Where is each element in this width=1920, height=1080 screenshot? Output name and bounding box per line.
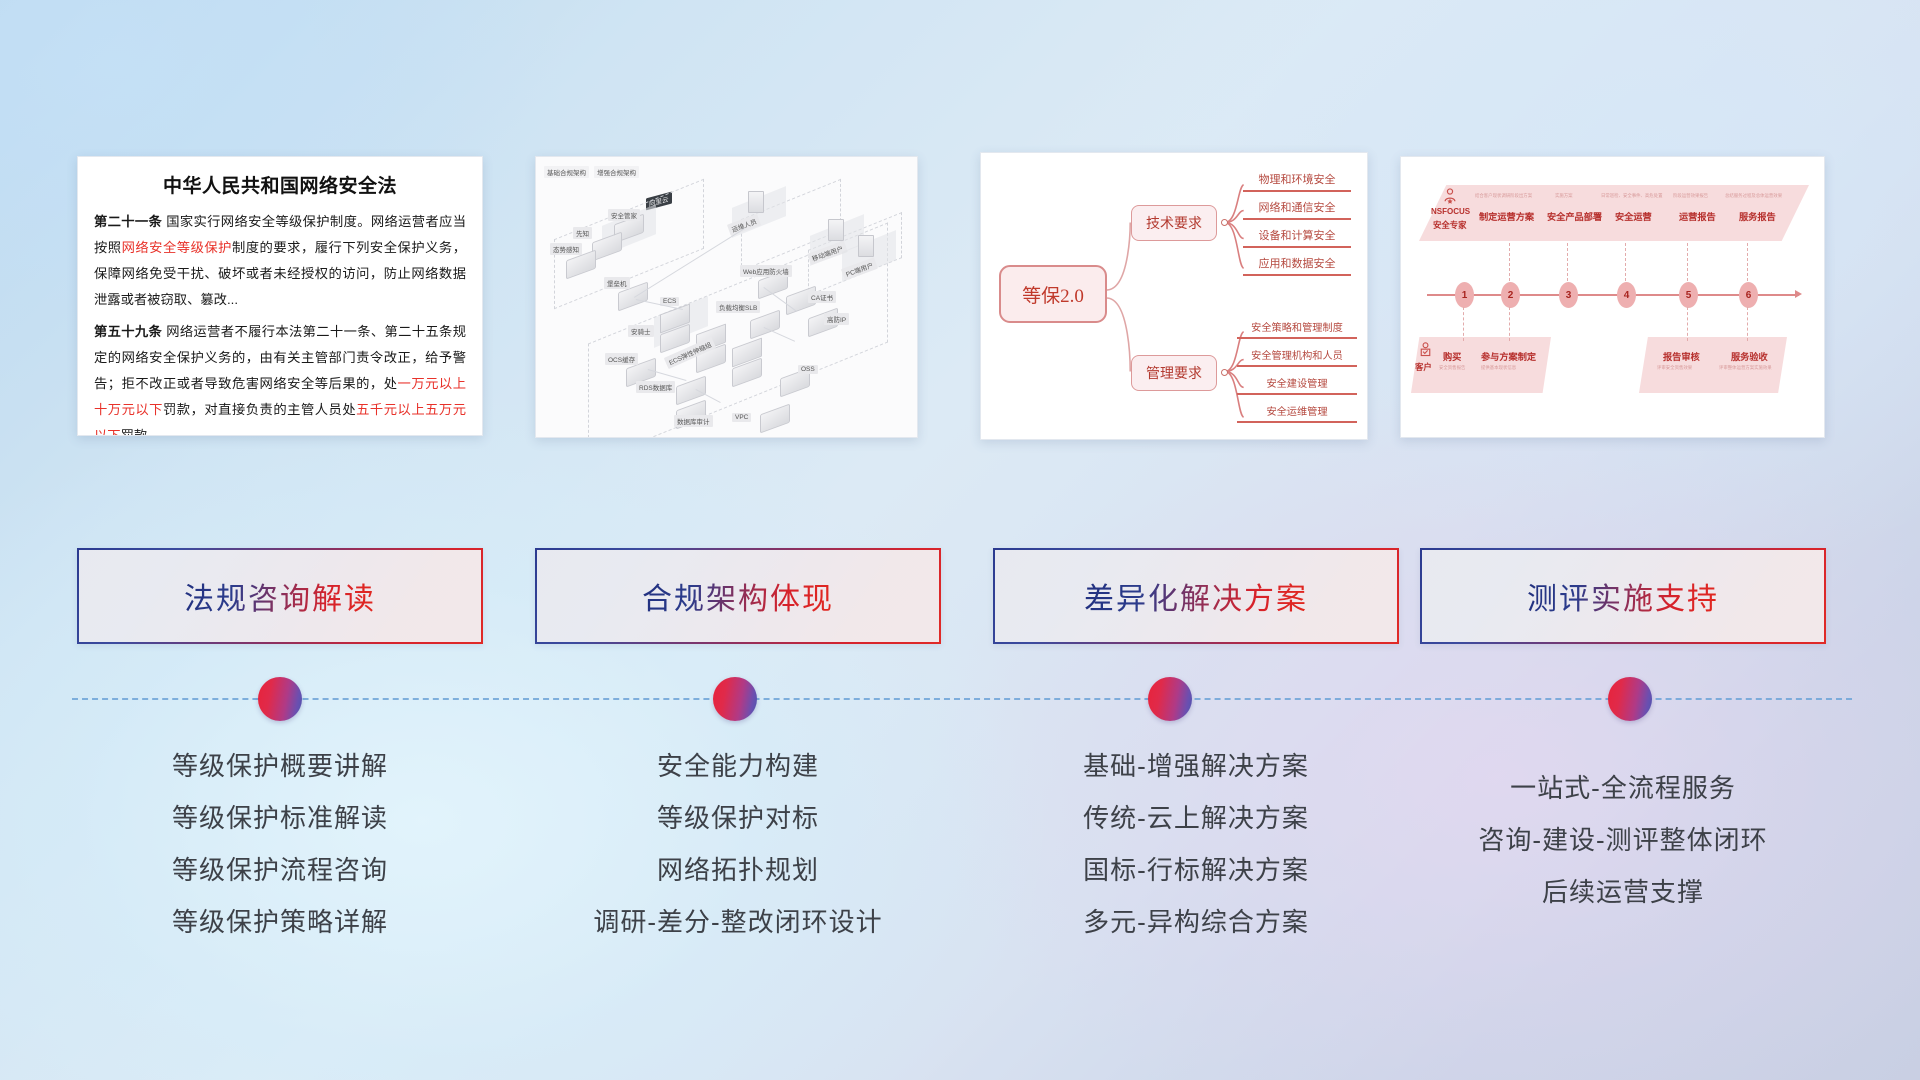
list-item: 一站式-全流程服务 <box>1420 762 1826 814</box>
arch-node-label: CA证书 <box>808 291 836 303</box>
pillar-header-differentiated-solution[interactable]: 差异化解决方案 <box>993 548 1399 644</box>
arch-node-pc-user <box>858 235 874 257</box>
timeline-tick <box>1567 243 1568 281</box>
card-service-timeline[interactable]: NSFOCUS 安全专家 结合客户现状调研阶段出方案 制定运营方案 实施方案 安… <box>1400 156 1825 438</box>
timeline-tick <box>1625 243 1626 281</box>
customer-icon <box>1417 341 1434 358</box>
mindmap-leaf: 安全运维管理 <box>1237 403 1357 423</box>
arch-node-label: RDS数据库 <box>636 381 675 393</box>
timeline-arrow-icon <box>1795 290 1802 298</box>
mindmap-leaf: 安全策略和管理制度 <box>1237 319 1357 339</box>
timeline-tick <box>1687 243 1688 281</box>
timeline-tick <box>1509 307 1510 341</box>
pillar-title: 合规架构体现 <box>642 574 834 618</box>
arch-node-label: 先知 <box>573 227 592 239</box>
mindmap-leaf: 物理和环境安全 <box>1243 171 1351 192</box>
arch-tab-enhanced: 增强合规架构 <box>594 166 639 178</box>
arch-node-mobile-user <box>828 219 844 241</box>
mindmap-leaf: 网络和通信安全 <box>1243 199 1351 220</box>
timeline-step-dot[interactable]: 5 <box>1679 282 1698 308</box>
step-label: 服务报告 <box>1739 209 1776 223</box>
timeline-step-dot[interactable]: 6 <box>1739 282 1758 308</box>
step-label: 安全运营 <box>1615 209 1652 223</box>
mindmap-leaf: 设备和计算安全 <box>1243 227 1351 248</box>
arch-node-label: 安全管家 <box>608 209 640 221</box>
law-article-label: 第五十九条 <box>94 324 162 339</box>
customer-action-label: 服务验收 <box>1731 349 1768 363</box>
law-run: 罚款，对直接负责的主管人员处 <box>163 402 356 417</box>
law-article-label: 第二十一条 <box>94 214 162 229</box>
timeline-step-dot[interactable]: 4 <box>1617 282 1636 308</box>
list-item: 基础-增强解决方案 <box>993 740 1399 792</box>
customer-action-caption: 评审整体运营方案实施效果 <box>1719 365 1772 371</box>
arch-node-label: 堡垒机 <box>604 277 630 289</box>
law-run: 罚款。 <box>121 428 161 436</box>
pillar-detail-list-4: 一站式-全流程服务 咨询-建设-测评整体闭环 后续运营支撑 <box>1420 762 1826 918</box>
pillar-title: 法规咨询解读 <box>184 574 376 618</box>
card-mindmap[interactable]: 等保2.0 技术要求 物理和环境安全 网络和通信安全 设备和计算安全 应用和数据… <box>980 152 1368 440</box>
customer-action-label: 购买 <box>1443 349 1461 363</box>
list-item: 国标-行标解决方案 <box>993 844 1399 896</box>
arch-node-label: 负载均衡SLB <box>716 301 760 313</box>
mindmap-branch-technical[interactable]: 技术要求 <box>1131 205 1217 241</box>
arch-node-label: 态势感知 <box>550 243 582 255</box>
card-cloud-architecture[interactable]: 基础合规架构 增强合规架构 阿里云 安全管家 先知 态势感知 堡垒机 <box>535 156 918 438</box>
arch-tab-basic: 基础合规架构 <box>544 166 589 178</box>
timeline-tick <box>1747 243 1748 281</box>
provider-role: 安全专家 <box>1433 219 1467 231</box>
step-label: 安全产品部署 <box>1547 209 1602 223</box>
pillar-title: 测评实施支持 <box>1527 574 1719 618</box>
step-label: 运营报告 <box>1679 209 1716 223</box>
arch-node-operator <box>748 191 764 213</box>
arch-node-label: VPC <box>732 413 751 422</box>
list-item: 等级保护策略详解 <box>77 896 483 948</box>
step-caption: 结合客户现状调研阶段出方案 <box>1475 193 1532 199</box>
pillar-detail-list-2: 安全能力构建 等级保护对标 网络拓扑规划 调研-差分-整改闭环设计 <box>535 740 941 948</box>
arch-node-label: 安骑士 <box>628 325 654 337</box>
arch-node-vpc <box>760 404 790 434</box>
expert-icon <box>1441 187 1459 205</box>
provider-brand: NSFOCUS <box>1431 207 1470 216</box>
pillar-marker-4[interactable] <box>1608 677 1652 721</box>
step-label: 制定运营方案 <box>1479 209 1534 223</box>
arch-node-label: OCS缓存 <box>605 353 638 365</box>
law-body: 第二十一条 国家实行网络安全等级保护制度。网络运营者应当按照网络安全等级保护制度… <box>78 209 482 436</box>
pillar-marker-2[interactable] <box>713 677 757 721</box>
mindmap-branch-management[interactable]: 管理要求 <box>1131 355 1217 391</box>
list-item: 后续运营支撑 <box>1420 866 1826 918</box>
mindmap-collapse-icon[interactable] <box>1221 219 1228 226</box>
pillar-detail-list-3: 基础-增强解决方案 传统-云上解决方案 国标-行标解决方案 多元-异构综合方案 <box>993 740 1399 948</box>
step-caption: 实施方案 <box>1555 193 1573 199</box>
arch-node-label: 数据库审计 <box>674 415 713 427</box>
arch-node-label: OSS <box>798 365 818 374</box>
list-item: 等级保护流程咨询 <box>77 844 483 896</box>
list-item: 网络拓扑规划 <box>535 844 941 896</box>
timeline-step-dot[interactable]: 3 <box>1559 282 1578 308</box>
list-item: 等级保护概要讲解 <box>77 740 483 792</box>
timeline-divider <box>72 698 1852 700</box>
list-item: 等级保护对标 <box>535 792 941 844</box>
mindmap: 等保2.0 技术要求 物理和环境安全 网络和通信安全 设备和计算安全 应用和数据… <box>981 153 1367 439</box>
arch-node-label: 高防IP <box>824 313 849 325</box>
service-timeline: NSFOCUS 安全专家 结合客户现状调研阶段出方案 制定运营方案 实施方案 安… <box>1401 157 1824 437</box>
pillar-detail-list-1: 等级保护概要讲解 等级保护标准解读 等级保护流程咨询 等级保护策略详解 <box>77 740 483 948</box>
timeline-step-dot[interactable]: 2 <box>1501 282 1520 308</box>
law-paragraph: 第五十九条 网络运营者不履行本法第二十一条、第二十五条规定的网络安全保护义务的，… <box>94 319 466 436</box>
pillar-title: 差异化解决方案 <box>1084 574 1308 618</box>
step-caption: 总结服务过程及总体运营效果 <box>1725 193 1782 199</box>
law-paragraph: 第二十一条 国家实行网络安全等级保护制度。网络运营者应当按照网络安全等级保护制度… <box>94 209 466 313</box>
customer-action-caption: 安全资售报告 <box>1439 365 1465 371</box>
timeline-tick <box>1687 307 1688 341</box>
list-item: 咨询-建设-测评整体闭环 <box>1420 814 1826 866</box>
pillar-header-row: 法规咨询解读 合规架构体现 差异化解决方案 测评实施支持 <box>0 548 1920 648</box>
customer-action-caption: 提供基本现状信息 <box>1481 365 1516 371</box>
timeline-tick <box>1747 307 1748 341</box>
pillar-marker-1[interactable] <box>258 677 302 721</box>
card-law-document[interactable]: 中华人民共和国网络安全法 第二十一条 国家实行网络安全等级保护制度。网络运营者应… <box>77 156 483 436</box>
mindmap-collapse-icon[interactable] <box>1221 369 1228 376</box>
pillar-header-assessment-support[interactable]: 测评实施支持 <box>1420 548 1826 644</box>
customer-role: 客户 <box>1415 361 1432 373</box>
step-caption: 日常巡检、安全事件、高危处置 <box>1601 193 1662 199</box>
law-run-highlight: 网络安全等级保护 <box>122 240 232 255</box>
pillar-header-regulation-consulting[interactable]: 法规咨询解读 <box>77 548 483 644</box>
timeline-tick <box>1509 243 1510 281</box>
reference-card-row: 中华人民共和国网络安全法 第二十一条 国家实行网络安全等级保护制度。网络运营者应… <box>0 152 1920 442</box>
mindmap-leaf: 应用和数据安全 <box>1243 255 1351 276</box>
law-title: 中华人民共和国网络安全法 <box>78 157 482 209</box>
slide-canvas: 中华人民共和国网络安全法 第二十一条 国家实行网络安全等级保护制度。网络运营者应… <box>0 0 1920 1080</box>
list-item: 安全能力构建 <box>535 740 941 792</box>
mindmap-leaf: 安全管理机构和人员 <box>1237 347 1357 367</box>
pillar-header-compliance-architecture[interactable]: 合规架构体现 <box>535 548 941 644</box>
timeline-tick <box>1463 307 1464 341</box>
mindmap-leaf: 安全建设管理 <box>1237 375 1357 395</box>
arch-node-label: Web应用防火墙 <box>740 265 792 277</box>
list-item: 调研-差分-整改闭环设计 <box>535 896 941 948</box>
list-item: 传统-云上解决方案 <box>993 792 1399 844</box>
customer-action-label: 参与方案制定 <box>1481 349 1536 363</box>
customer-action-label: 报告审核 <box>1663 349 1700 363</box>
timeline-step-dot[interactable]: 1 <box>1455 282 1474 308</box>
list-item: 等级保护标准解读 <box>77 792 483 844</box>
mindmap-root[interactable]: 等保2.0 <box>999 265 1107 323</box>
customer-action-caption: 评审安全资售效果 <box>1657 365 1692 371</box>
step-caption: 阶段运营效果报告 <box>1673 193 1708 199</box>
list-item: 多元-异构综合方案 <box>993 896 1399 948</box>
pillar-marker-3[interactable] <box>1148 677 1192 721</box>
architecture-diagram: 基础合规架构 增强合规架构 阿里云 安全管家 先知 态势感知 堡垒机 <box>536 157 917 437</box>
